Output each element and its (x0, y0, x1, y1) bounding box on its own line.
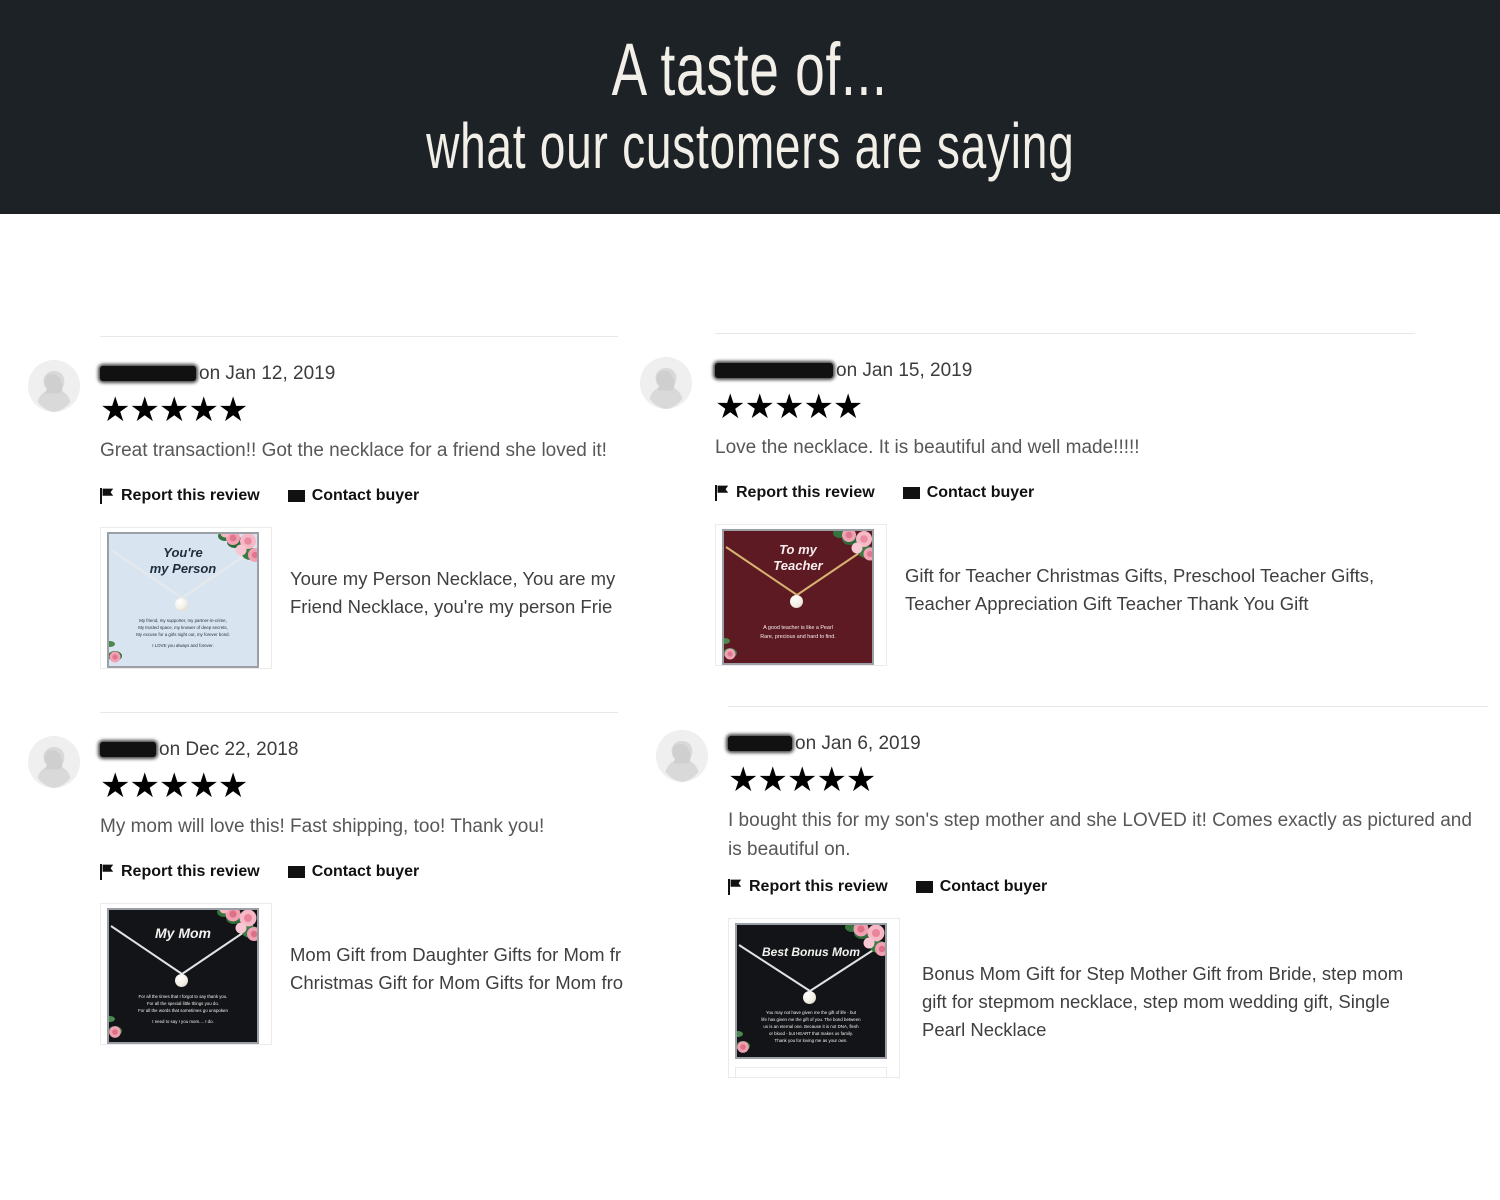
review-header: on Jan 12, 2019 (100, 336, 628, 385)
product-title[interactable]: Gift for Teacher Christmas Gifts, Presch… (905, 524, 1430, 618)
review-text: Great transaction!! Got the necklace for… (100, 436, 628, 465)
report-label: Report this review (736, 484, 875, 502)
product-title-line3: Pearl Necklace (922, 1016, 1460, 1044)
page-header-banner: A taste of... what our customers are say… (0, 0, 1500, 214)
product-row[interactable]: You're my Person My friend, my supporter… (100, 527, 628, 669)
product-title-line1: Gift for Teacher Christmas Gifts, Presch… (905, 562, 1430, 590)
product-title-line2: Friend Necklace, you're my person Frie (290, 593, 628, 621)
review-header: on Dec 22, 2018 (100, 712, 628, 761)
redacted-username (100, 742, 156, 757)
review-actions: Report this review Contact buyer (100, 863, 628, 881)
report-label: Report this review (121, 863, 260, 881)
avatar (28, 360, 80, 412)
header-title-line1: A taste of... (612, 34, 888, 107)
product-title[interactable]: Bonus Mom Gift for Step Mother Gift from… (922, 918, 1460, 1044)
gift-card-image: To my Teacher A good teacher is like a P… (722, 529, 874, 665)
card-fine-print: For all the times that I forgot to say t… (116, 993, 250, 1025)
review-date: on Jan 12, 2019 (199, 363, 335, 385)
review-date: on Jan 6, 2019 (795, 733, 921, 755)
redacted-username (728, 736, 792, 751)
contact-label: Contact buyer (312, 487, 420, 505)
review-text: Love the necklace. It is beautiful and w… (715, 433, 1430, 462)
product-title-line1: Bonus Mom Gift for Step Mother Gift from… (922, 960, 1460, 988)
product-title[interactable]: Youre my Person Necklace, You are my Fri… (290, 527, 628, 621)
review-header: on Jan 15, 2019 (715, 333, 1430, 382)
redacted-username (100, 366, 196, 381)
product-row[interactable]: To my Teacher A good teacher is like a P… (715, 524, 1430, 666)
star-rating: ★★★★★ (100, 769, 628, 803)
report-this-review-button[interactable]: Report this review (100, 487, 260, 505)
pearl-pendant (803, 991, 816, 1004)
contact-buyer-button[interactable]: Contact buyer (916, 878, 1048, 896)
card-heading-line1: You're (163, 546, 202, 559)
report-this-review-button[interactable]: Report this review (100, 863, 260, 881)
review-body: on Jan 15, 2019 ★★★★★ Love the necklace.… (715, 333, 1430, 666)
review-actions: Report this review Contact buyer (715, 484, 1430, 502)
gift-card-image: You're my Person My friend, my supporter… (107, 532, 259, 668)
review-actions: Report this review Contact buyer (100, 487, 628, 505)
report-label: Report this review (749, 878, 888, 896)
envelope-icon (288, 489, 305, 503)
card-fine-print: You may not have given me the gift of li… (744, 1009, 878, 1044)
product-title-line2: Teacher Appreciation Gift Teacher Thank … (905, 590, 1430, 618)
contact-buyer-button[interactable]: Contact buyer (288, 487, 420, 505)
card-heading-line1: To my (779, 543, 817, 556)
rose-cluster-icon (203, 908, 259, 957)
gift-card-image: My Mom For all the times that I forgot t… (107, 908, 259, 1044)
review-text: My mom will love this! Fast shipping, to… (100, 812, 628, 841)
card-heading-line1: Best Bonus Mom (762, 946, 860, 959)
gift-card-image: Best Bonus Mom You may not have given me… (735, 923, 887, 1059)
flag-icon (715, 485, 729, 501)
review-date: on Dec 22, 2018 (159, 739, 298, 761)
report-this-review-button[interactable]: Report this review (715, 484, 875, 502)
product-title-line2: Christmas Gift for Mom Gifts for Mom fro (290, 969, 628, 997)
product-thumbnail[interactable]: Best Bonus Mom You may not have given me… (728, 918, 900, 1078)
pearl-pendant (790, 595, 803, 608)
flag-icon (728, 879, 742, 895)
contact-buyer-button[interactable]: Contact buyer (903, 484, 1035, 502)
redacted-username (715, 363, 833, 378)
envelope-icon (288, 865, 305, 879)
product-title-line1: Youre my Person Necklace, You are my (290, 565, 628, 593)
envelope-icon (903, 486, 920, 500)
flag-icon (100, 864, 114, 880)
card-heading-line2: Teacher (773, 559, 822, 572)
star-rating: ★★★★★ (715, 390, 1430, 424)
review-body: on Jan 6, 2019 ★★★★★ I bought this for m… (728, 706, 1460, 1078)
product-thumbnail[interactable]: My Mom For all the times that I forgot t… (100, 903, 272, 1045)
review-actions: Report this review Contact buyer (728, 878, 1460, 896)
product-thumbnail[interactable]: To my Teacher A good teacher is like a P… (715, 524, 887, 666)
pearl-pendant (175, 598, 188, 611)
product-row[interactable]: My Mom For all the times that I forgot t… (100, 903, 628, 1045)
flag-icon (100, 488, 114, 504)
report-label: Report this review (121, 487, 260, 505)
card-fine-print: A good teacher is like a Pearl Rare, pre… (731, 624, 865, 642)
reviews-grid: on Jan 12, 2019 ★★★★★ Great transaction!… (0, 214, 1500, 1200)
review-header: on Jan 6, 2019 (728, 706, 1460, 755)
contact-label: Contact buyer (927, 484, 1035, 502)
rose-cluster-icon (820, 529, 874, 576)
header-title-line2: what our customers are saying (426, 113, 1074, 180)
review-text: I bought this for my son's step mother a… (728, 806, 1488, 864)
card-fine-print: My friend, my supporter, my partner-in-c… (116, 617, 250, 649)
product-title-line2: gift for stepmom necklace, step mom wedd… (922, 988, 1460, 1016)
review-body: on Jan 12, 2019 ★★★★★ Great transaction!… (100, 336, 628, 669)
avatar (28, 736, 80, 788)
avatar (640, 357, 692, 409)
contact-buyer-button[interactable]: Contact buyer (288, 863, 420, 881)
card-heading-line2: my Person (150, 562, 216, 575)
contact-label: Contact buyer (312, 863, 420, 881)
report-this-review-button[interactable]: Report this review (728, 878, 888, 896)
product-title-line1: Mom Gift from Daughter Gifts for Mom fr (290, 941, 628, 969)
star-rating: ★★★★★ (100, 393, 628, 427)
product-thumbnail[interactable]: You're my Person My friend, my supporter… (100, 527, 272, 669)
card-heading-line1: My Mom (155, 927, 211, 940)
secondary-thumbnail-partial[interactable] (735, 1067, 887, 1078)
star-rating: ★★★★★ (728, 763, 1460, 797)
review-date: on Jan 15, 2019 (836, 360, 972, 382)
contact-label: Contact buyer (940, 878, 1048, 896)
review-body: on Dec 22, 2018 ★★★★★ My mom will love t… (100, 712, 628, 1045)
envelope-icon (916, 880, 933, 894)
pearl-pendant (175, 974, 188, 987)
product-title[interactable]: Mom Gift from Daughter Gifts for Mom fr … (290, 903, 628, 997)
avatar (656, 730, 708, 782)
product-row[interactable]: Best Bonus Mom You may not have given me… (728, 918, 1460, 1078)
